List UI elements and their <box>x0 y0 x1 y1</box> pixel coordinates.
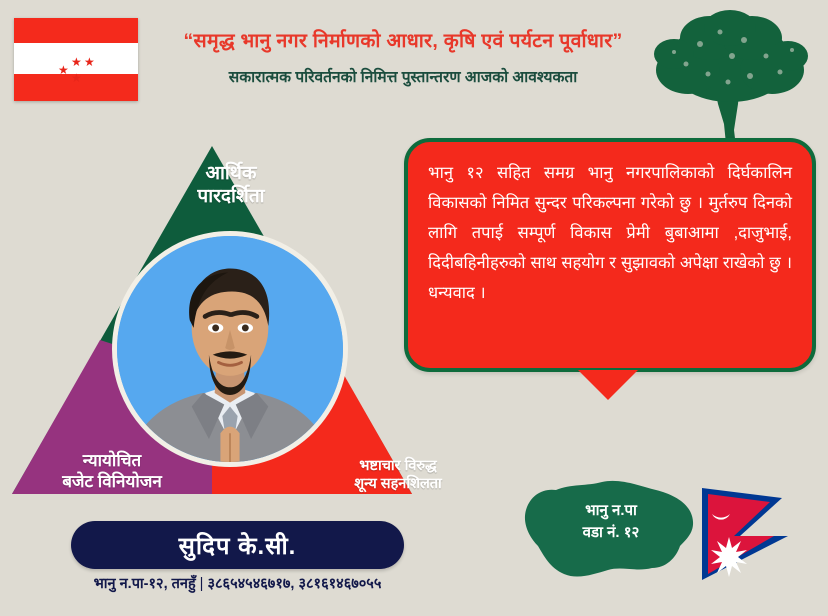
bubble-tail-icon <box>578 370 638 400</box>
candidate-phones: ३८६५४५४६७१७, ३८१६१४६७०५५ <box>207 576 381 592</box>
candidate-name-banner: सुदिप के.सी. <box>71 521 404 569</box>
candidate-name: सुदिप के.सी. <box>179 529 297 562</box>
pillars-triangle: आर्थिक पारदर्शिता न्यायोचित बजेट विनियोज… <box>12 146 412 506</box>
candidate-address: भानु न.पा-१२, तनहुँ <box>94 576 196 592</box>
pillar-label-line2: शून्य सहनशिलता <box>312 476 484 494</box>
ward-badge-text: भानु न.पा वडा नं. १२ <box>536 500 686 544</box>
flag-star-icon: ★ <box>71 72 82 84</box>
pillar-label-line1: भष्टाचार विरुद्ध <box>312 458 484 476</box>
pillar-label-line1: न्यायोचित <box>22 451 202 472</box>
pillar-label-line2: पारदर्शिता <box>136 185 326 208</box>
nepal-national-flag-icon <box>696 484 792 584</box>
flag-star-icon: ★ <box>71 56 82 68</box>
pillar-label-line1: आर्थिक <box>136 162 326 185</box>
flag-star-icon: ★ <box>58 64 69 76</box>
contact-separator: | <box>196 576 208 592</box>
candidate-photo <box>112 231 348 467</box>
flag-star-icon: ★ <box>84 56 95 68</box>
pillar-label-zero-tolerance: भष्टाचार विरुद्ध शून्य सहनशिलता <box>312 458 484 493</box>
slogan-sub-text: सकारात्मक परिवर्तनको निमित्त पुस्तान्तरण… <box>148 65 658 87</box>
slogan-main-text: “समृद्ध भानु नगर निर्माणको आधार, कृषि एव… <box>148 26 658 53</box>
pillar-label-economic-transparency: आर्थिक पारदर्शिता <box>136 162 326 208</box>
pillar-label-line2: बजेट विनियोजन <box>22 472 202 493</box>
ward-badge-line2: वडा नं. १२ <box>536 522 686 544</box>
candidate-contact-line: भानु न.पा-१२, तनहुँ|३८६५४५४६७१७, ३८१६१४६… <box>60 573 415 593</box>
slogan-block: “समृद्ध भानु नगर निर्माणको आधार, कृषि एव… <box>148 26 658 87</box>
candidate-message-bubble: भानु १२ सहित समग्र भानु नगरपालिकाको दिर्… <box>404 138 816 372</box>
nepali-congress-flag-icon: ★ ★ ★ ★ <box>14 18 138 101</box>
election-poster: ★ ★ ★ ★ “समृद्ध भानु नगर निर्माणको आधार,… <box>0 0 828 616</box>
pillar-label-fair-budget: न्यायोचित बजेट विनियोजन <box>22 451 202 492</box>
candidate-message-text: भानु १२ सहित समग्र भानु नगरपालिकाको दिर्… <box>428 158 792 308</box>
ward-badge-line1: भानु न.पा <box>536 500 686 522</box>
